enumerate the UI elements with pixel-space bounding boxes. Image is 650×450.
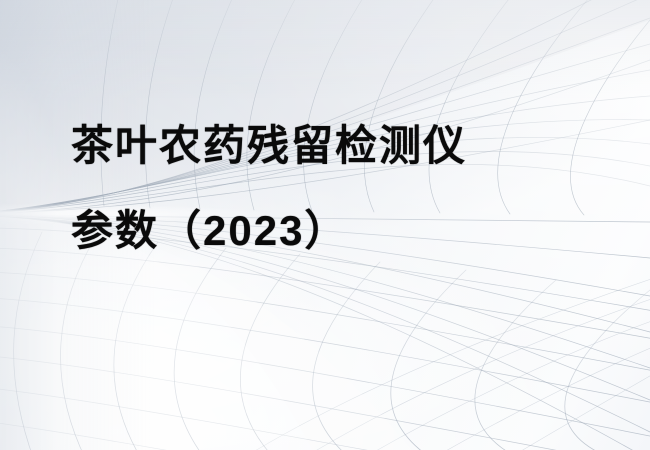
banner-title-block: 茶叶农药残留检测仪 参数（2023） [71,124,631,252]
banner-title-line-2: 参数（2023） [71,209,631,252]
banner-title-line-1: 茶叶农药残留检测仪 [71,124,631,167]
title-banner: 茶叶农药残留检测仪 参数（2023） [0,0,650,450]
